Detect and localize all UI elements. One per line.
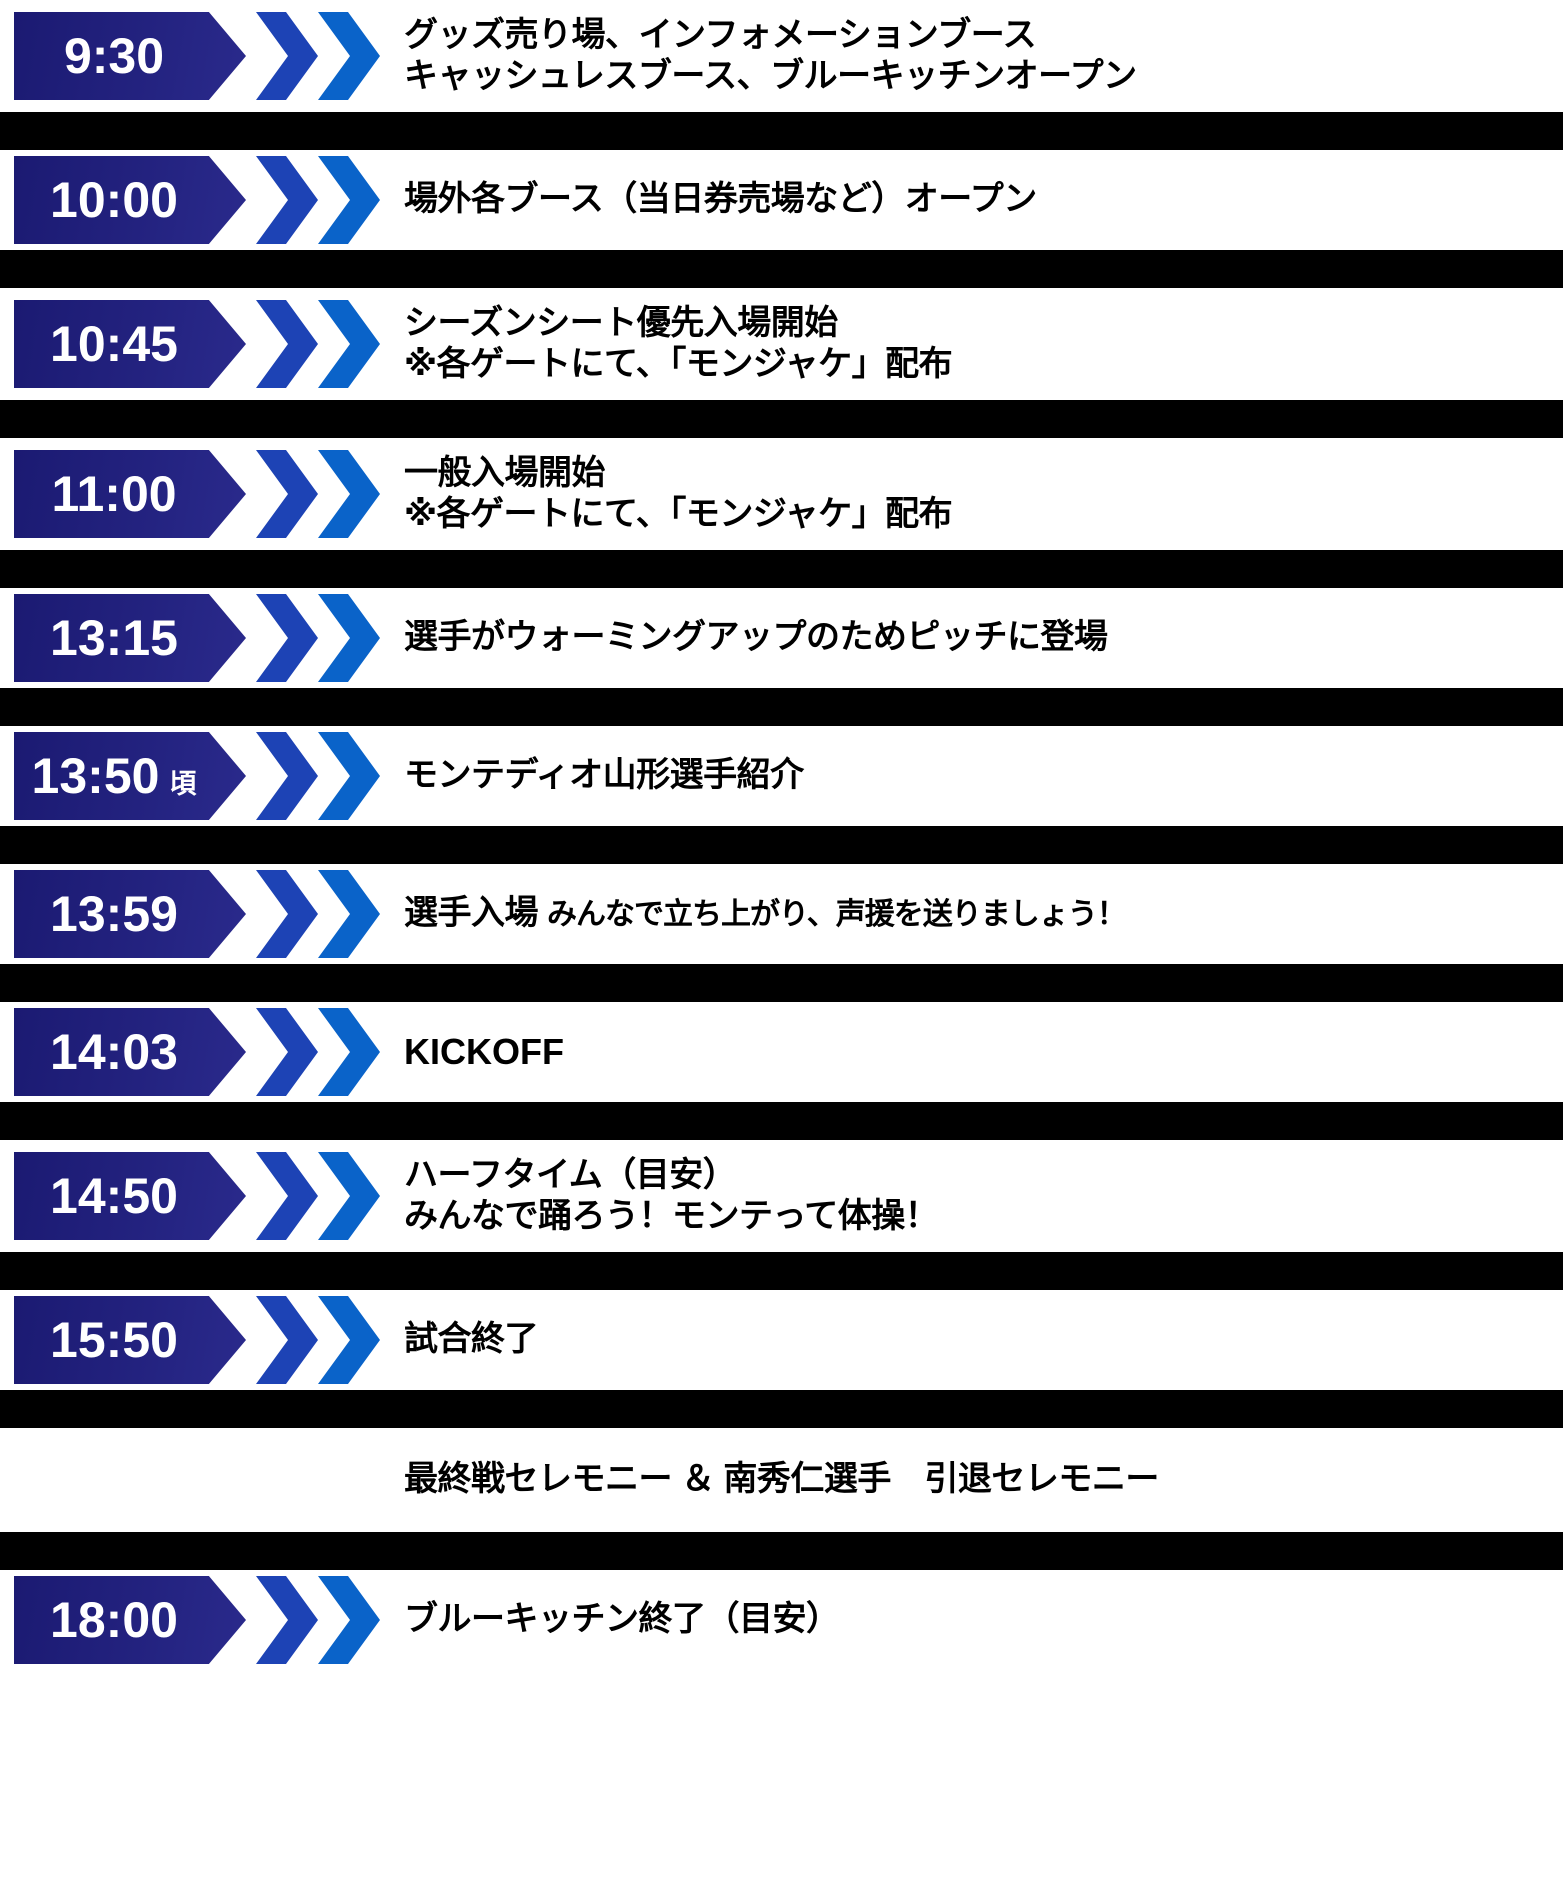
timetable-row: 14:50ハーフタイム（目安）みんなで踊ろう！モンテって体操！ [0, 1140, 1563, 1252]
description-text: グッズ売り場、インフォメーションブース [404, 16, 1036, 54]
row-separator [0, 1102, 1563, 1140]
row-description: 選手入場 みんなで立ち上がり、声援を送りましょう！ [390, 893, 1563, 934]
chevron-right-icon [256, 870, 318, 958]
timetable-row: 13:50頃モンテディオ山形選手紹介 [0, 726, 1563, 826]
timetable-row: 9:30グッズ売り場、インフォメーションブースキャッシュレスブース、ブルーキッチ… [0, 0, 1563, 112]
row-description: KICKOFF [390, 1030, 1563, 1074]
chevron-right-icon [256, 594, 318, 682]
chevron-right-icon [256, 450, 318, 538]
description-line: グッズ売り場、インフォメーションブース [404, 15, 1551, 56]
time-plate: 18:00 [14, 1576, 246, 1664]
row-description: ハーフタイム（目安）みんなで踊ろう！モンテって体操！ [390, 1155, 1563, 1238]
row-description: シーズンシート優先入場開始※各ゲートにて、「モンジャケ」配布 [390, 303, 1563, 386]
description-text: モンテディオ山形選手紹介 [404, 756, 804, 794]
timetable-row: 10:45シーズンシート優先入場開始※各ゲートにて、「モンジャケ」配布 [0, 288, 1563, 400]
description-line: モンテディオ山形選手紹介 [404, 755, 1551, 796]
timetable-row: 13:15選手がウォーミングアップのためピッチに登場 [0, 588, 1563, 688]
time-badge: 11:00 [0, 438, 390, 550]
time-plate: 10:45 [14, 300, 246, 388]
time-plate: 14:03 [14, 1008, 246, 1096]
row-description: 選手がウォーミングアップのためピッチに登場 [390, 617, 1563, 658]
description-text: 試合終了 [404, 1320, 538, 1358]
row-separator [0, 250, 1563, 288]
description-line: 最終戦セレモニー ＆ 南秀仁選手 引退セレモニー [404, 1459, 1551, 1500]
timetable-row: 14:03KICKOFF [0, 1002, 1563, 1102]
chevron-right-icon [256, 12, 318, 100]
chevron-right-icon [318, 300, 380, 388]
timetable-row: 13:59選手入場 みんなで立ち上がり、声援を送りましょう！ [0, 864, 1563, 964]
chevron-right-icon [256, 1576, 318, 1664]
row-description: 試合終了 [390, 1319, 1563, 1360]
chevron-right-icon [318, 1152, 380, 1240]
row-separator [0, 1390, 1563, 1428]
description-line: 選手入場 みんなで立ち上がり、声援を送りましょう！ [404, 893, 1551, 934]
time-badge: 10:00 [0, 150, 390, 250]
row-description: 最終戦セレモニー ＆ 南秀仁選手 引退セレモニー [0, 1459, 1563, 1500]
row-description: 一般入場開始※各ゲートにて、「モンジャケ」配布 [390, 453, 1563, 536]
time-value: 13:15 [50, 613, 178, 663]
row-description: モンテディオ山形選手紹介 [390, 755, 1563, 796]
row-separator [0, 400, 1563, 438]
description-text: シーズンシート優先入場開始 [404, 304, 838, 342]
time-suffix: 頃 [169, 771, 196, 798]
description-line: ※各ゲートにて、「モンジャケ」配布 [404, 344, 1551, 385]
chevron-right-icon [256, 732, 318, 820]
time-badge: 18:00 [0, 1570, 390, 1670]
description-line: 場外各ブース（当日券売場など）オープン [404, 179, 1551, 220]
description-line: ※各ゲートにて、「モンジャケ」配布 [404, 494, 1551, 535]
description-line: ブルーキッチン終了（目安） [404, 1599, 1551, 1640]
time-badge: 14:50 [0, 1140, 390, 1252]
time-value: 18:00 [50, 1595, 178, 1645]
description-line: KICKOFF [404, 1030, 1551, 1074]
chevron-right-icon [318, 450, 380, 538]
description-text: みんなで踊ろう！モンテって体操！ [404, 1197, 938, 1235]
time-plate: 15:50 [14, 1296, 246, 1384]
description-line: 選手がウォーミングアップのためピッチに登場 [404, 617, 1551, 658]
chevron-right-icon [318, 1296, 380, 1384]
row-separator [0, 550, 1563, 588]
chevron-right-icon [256, 1008, 318, 1096]
time-badge: 15:50 [0, 1290, 390, 1390]
time-badge: 10:45 [0, 288, 390, 400]
chevron-right-icon [256, 1152, 318, 1240]
row-separator [0, 112, 1563, 150]
timetable-row: 18:00ブルーキッチン終了（目安） [0, 1570, 1563, 1670]
timetable-row: 15:50試合終了 [0, 1290, 1563, 1390]
time-value: 10:45 [50, 319, 178, 369]
timetable-row: 10:00場外各ブース（当日券売場など）オープン [0, 150, 1563, 250]
description-text: 最終戦セレモニー ＆ 南秀仁選手 引退セレモニー [404, 1460, 1159, 1498]
time-value: 15:50 [50, 1315, 178, 1365]
time-badge: 13:15 [0, 588, 390, 688]
timetable-row: 最終戦セレモニー ＆ 南秀仁選手 引退セレモニー [0, 1428, 1563, 1532]
description-line: ハーフタイム（目安） [404, 1155, 1551, 1196]
row-description: ブルーキッチン終了（目安） [390, 1599, 1563, 1640]
chevron-right-icon [256, 300, 318, 388]
time-plate: 10:00 [14, 156, 246, 244]
time-plate: 11:00 [14, 450, 246, 538]
time-plate: 13:59 [14, 870, 246, 958]
time-plate: 13:15 [14, 594, 246, 682]
description-text: ※各ゲートにて、「モンジャケ」配布 [404, 495, 952, 533]
row-separator [0, 964, 1563, 1002]
time-badge: 14:03 [0, 1002, 390, 1102]
event-timetable: 9:30グッズ売り場、インフォメーションブースキャッシュレスブース、ブルーキッチ… [0, 0, 1563, 1670]
time-value: 14:03 [50, 1027, 178, 1077]
description-text: 一般入場開始 [404, 454, 605, 492]
time-plate: 13:50頃 [14, 732, 246, 820]
description-text: 選手がウォーミングアップのためピッチに登場 [404, 618, 1108, 656]
description-text: 選手入場 [404, 894, 547, 932]
chevron-right-icon [256, 156, 318, 244]
timetable-row: 11:00一般入場開始※各ゲートにて、「モンジャケ」配布 [0, 438, 1563, 550]
time-badge: 13:50頃 [0, 726, 390, 826]
chevron-right-icon [318, 156, 380, 244]
description-text: 場外各ブース（当日券売場など）オープン [404, 180, 1037, 218]
description-text: ハーフタイム（目安） [404, 1156, 736, 1194]
chevron-right-icon [318, 594, 380, 682]
description-subtext: みんなで立ち上がり、声援を送りましょう！ [547, 898, 1126, 931]
description-line: 試合終了 [404, 1319, 1551, 1360]
description-text: ※各ゲートにて、「モンジャケ」配布 [404, 345, 952, 383]
time-value: 14:50 [50, 1171, 178, 1221]
description-line: 一般入場開始 [404, 453, 1551, 494]
row-description: 場外各ブース（当日券売場など）オープン [390, 179, 1563, 220]
chevron-right-icon [318, 1576, 380, 1664]
time-value: 13:50 [32, 751, 160, 801]
row-separator [0, 1252, 1563, 1290]
time-value: 13:59 [50, 889, 178, 939]
description-text: キャッシュレスブース、ブルーキッチンオープン [404, 57, 1137, 95]
row-separator [0, 826, 1563, 864]
description-line: キャッシュレスブース、ブルーキッチンオープン [404, 56, 1551, 97]
chevron-right-icon [318, 12, 380, 100]
time-plate: 14:50 [14, 1152, 246, 1240]
description-line: シーズンシート優先入場開始 [404, 303, 1551, 344]
chevron-right-icon [256, 1296, 318, 1384]
row-separator [0, 688, 1563, 726]
time-badge: 9:30 [0, 0, 390, 112]
description-text: KICKOFF [404, 1031, 564, 1072]
row-description: グッズ売り場、インフォメーションブースキャッシュレスブース、ブルーキッチンオープ… [390, 15, 1563, 98]
time-value: 10:00 [50, 175, 178, 225]
description-text: ブルーキッチン終了（目安） [404, 1600, 840, 1638]
description-line: みんなで踊ろう！モンテって体操！ [404, 1196, 1551, 1237]
chevron-right-icon [318, 870, 380, 958]
time-plate: 9:30 [14, 12, 246, 100]
time-value: 11:00 [51, 469, 176, 519]
chevron-right-icon [318, 732, 380, 820]
time-value: 9:30 [64, 31, 164, 81]
time-badge: 13:59 [0, 864, 390, 964]
row-separator [0, 1532, 1563, 1570]
chevron-right-icon [318, 1008, 380, 1096]
